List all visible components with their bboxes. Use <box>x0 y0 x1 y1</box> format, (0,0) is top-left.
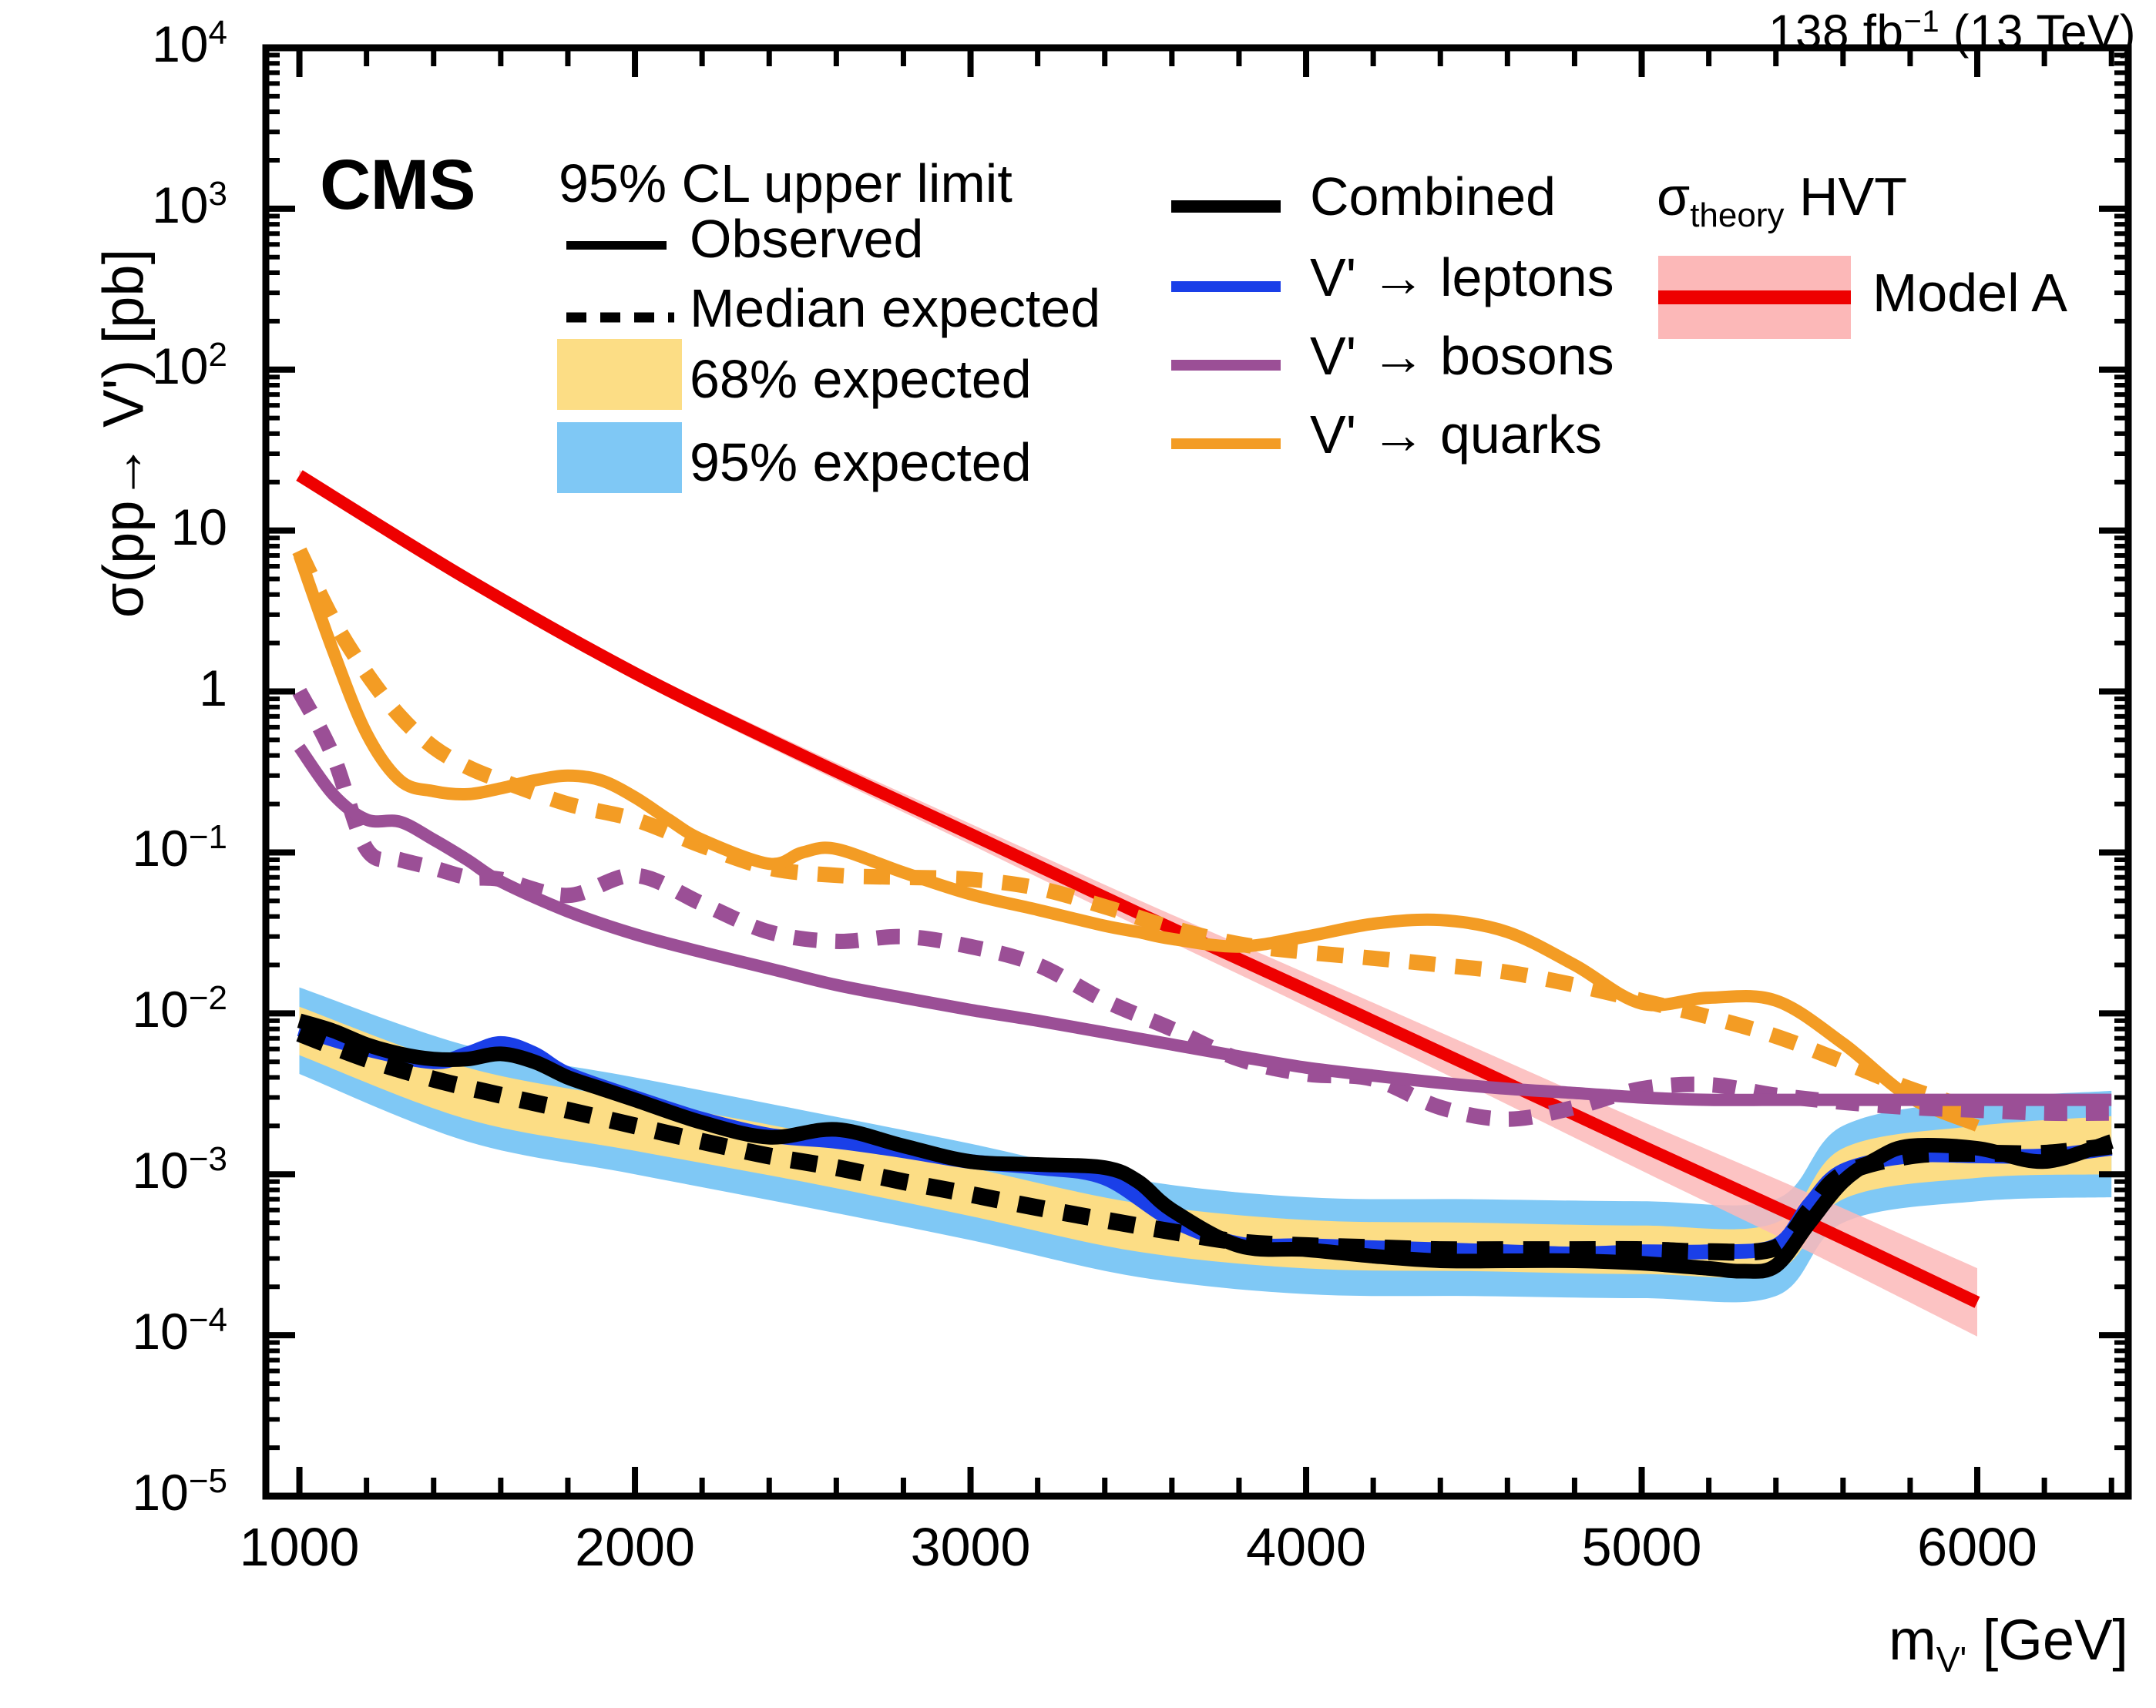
cms-limit-plot-figure: 138 fb−1 (13 TeV) σ(pp→ V') [pb] mV' [Ge… <box>0 0 2156 1708</box>
quarks-expected-line <box>300 551 1978 1110</box>
plot-canvas <box>0 0 2156 1708</box>
